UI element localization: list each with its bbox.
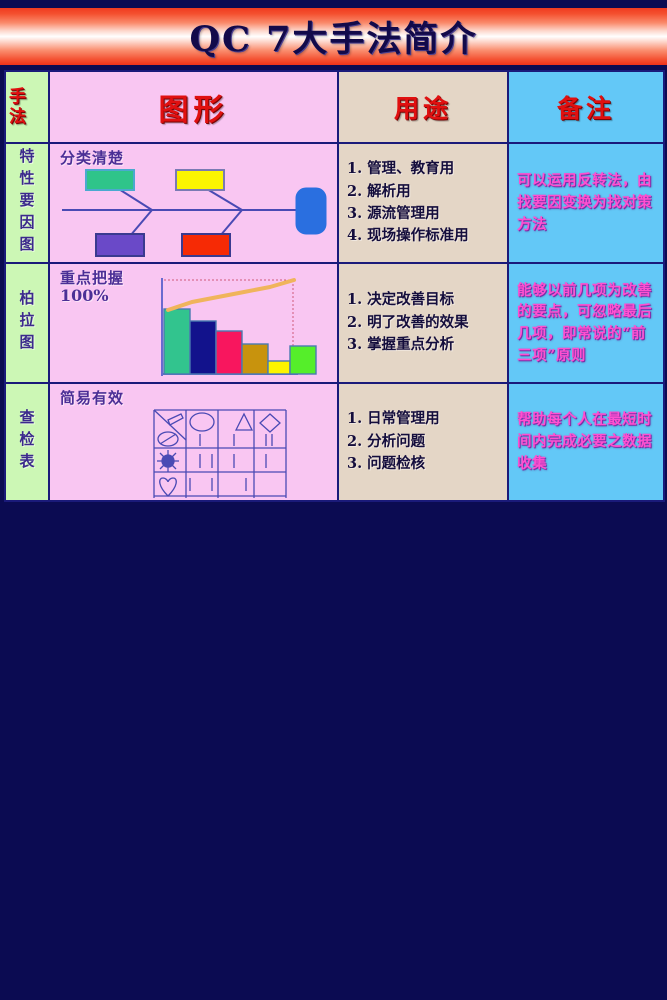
header-cell-graph: 图形 bbox=[49, 71, 338, 143]
method-label-0: 特性要因图 bbox=[17, 144, 38, 262]
method-label-2: 查检表 bbox=[17, 384, 38, 500]
use-item: 3. 源流管理用 bbox=[347, 203, 503, 225]
note-cell-2: 帮助每个人在最短时间内完成必要之数据收集 bbox=[508, 383, 664, 501]
header-cell-note: 备注 bbox=[508, 71, 664, 143]
use-item: 2. 分析问题 bbox=[347, 431, 503, 453]
header-label-graph: 图形 bbox=[50, 85, 337, 129]
pareto-bar bbox=[242, 344, 268, 374]
fishbone-box-purple bbox=[96, 234, 144, 256]
pareto-bar bbox=[216, 331, 242, 374]
graph-label-0: 分类清楚 bbox=[60, 150, 124, 167]
note-text-1: 能够以前几项为改善的要点，可忽略最后几项，即常说的“前三项”原则 bbox=[509, 274, 663, 373]
note-cell-1: 能够以前几项为改善的要点，可忽略最后几项，即常说的“前三项”原则 bbox=[508, 263, 664, 383]
fishbone-head bbox=[296, 188, 326, 234]
use-list-0: 1. 管理、教育用 2. 解析用 3. 源流管理用 4. 现场操作标准用 bbox=[339, 152, 507, 254]
method-cell-1: 柏拉图 bbox=[5, 263, 49, 383]
use-item: 4. 现场操作标准用 bbox=[347, 225, 503, 247]
page-title: QC 7大手法简介 bbox=[190, 11, 478, 62]
header-cell-method: 手法 bbox=[5, 71, 49, 143]
graph-cell-2: 简易有效 bbox=[49, 383, 338, 501]
graph-cell-0: 分类清楚 bbox=[49, 143, 338, 263]
use-item: 2. 明了改善的效果 bbox=[347, 312, 503, 334]
use-item: 1. 日常管理用 bbox=[347, 408, 503, 430]
use-cell-0: 1. 管理、教育用 2. 解析用 3. 源流管理用 4. 现场操作标准用 bbox=[338, 143, 508, 263]
circle-slash-icon bbox=[160, 434, 176, 444]
triangle-icon bbox=[236, 414, 252, 430]
title-banner: QC 7大手法简介 bbox=[0, 8, 667, 65]
table-row: 查检表 简易有效 bbox=[5, 383, 664, 501]
header-label-method: 手法 bbox=[6, 87, 23, 127]
use-list-2: 1. 日常管理用 2. 分析问题 3. 问题检核 bbox=[339, 402, 507, 481]
method-cell-0: 特性要因图 bbox=[5, 143, 49, 263]
pencil-icon bbox=[168, 414, 183, 425]
method-cell-2: 查检表 bbox=[5, 383, 49, 501]
use-item: 3. 掌握重点分析 bbox=[347, 334, 503, 356]
header-cell-use: 用途 bbox=[338, 71, 508, 143]
circle-icon bbox=[190, 413, 214, 431]
graph-label-1: 重点把握 100% bbox=[60, 270, 124, 306]
method-label-1: 柏拉图 bbox=[17, 264, 38, 382]
use-cell-2: 1. 日常管理用 2. 分析问题 3. 问题检核 bbox=[338, 383, 508, 501]
graph-label-2: 简易有效 bbox=[60, 390, 124, 407]
note-cell-0: 可以运用反转法，由找要因变换为找对策方法 bbox=[508, 143, 664, 263]
fishbone-box-yellow bbox=[176, 170, 224, 190]
pareto-bar bbox=[268, 361, 290, 374]
note-text-2: 帮助每个人在最短时间内完成必要之数据收集 bbox=[509, 403, 663, 480]
slide-page: QC 7大手法简介 手法 图形 用途 备注 bbox=[0, 0, 667, 500]
pareto-bar bbox=[164, 309, 190, 374]
graph-label-text-1: 重点把握 bbox=[60, 269, 124, 287]
use-item: 2. 解析用 bbox=[347, 181, 503, 203]
use-list-1: 1. 决定改善目标 2. 明了改善的效果 3. 掌握重点分析 bbox=[339, 283, 507, 362]
pareto-cumulative-line bbox=[168, 280, 294, 310]
table-row: 柏拉图 重点把握 100% bbox=[5, 263, 664, 383]
diamond-icon bbox=[260, 414, 280, 432]
fishbone-box-red bbox=[182, 234, 230, 256]
use-item: 1. 管理、教育用 bbox=[347, 158, 503, 180]
graph-sublabel-1: 100% bbox=[60, 286, 109, 305]
header-label-use: 用途 bbox=[339, 89, 507, 125]
heart-icon bbox=[160, 478, 177, 496]
header-label-note: 备注 bbox=[509, 89, 663, 125]
pareto-bar bbox=[190, 321, 216, 374]
note-text-0: 可以运用反转法，由找要因变换为找对策方法 bbox=[509, 164, 663, 241]
use-cell-1: 1. 决定改善目标 2. 明了改善的效果 3. 掌握重点分析 bbox=[338, 263, 508, 383]
fishbone-box-green bbox=[86, 170, 134, 190]
use-item: 3. 问题检核 bbox=[347, 453, 503, 475]
table-row: 特性要因图 分类清楚 bbox=[5, 143, 664, 263]
qc-methods-table: 手法 图形 用途 备注 特性要因图 分类清楚 bbox=[4, 70, 665, 502]
use-item: 1. 决定改善目标 bbox=[347, 289, 503, 311]
graph-cell-1: 重点把握 100% bbox=[49, 263, 338, 383]
pareto-bar bbox=[290, 346, 316, 374]
table-header-row: 手法 图形 用途 备注 bbox=[5, 71, 664, 143]
